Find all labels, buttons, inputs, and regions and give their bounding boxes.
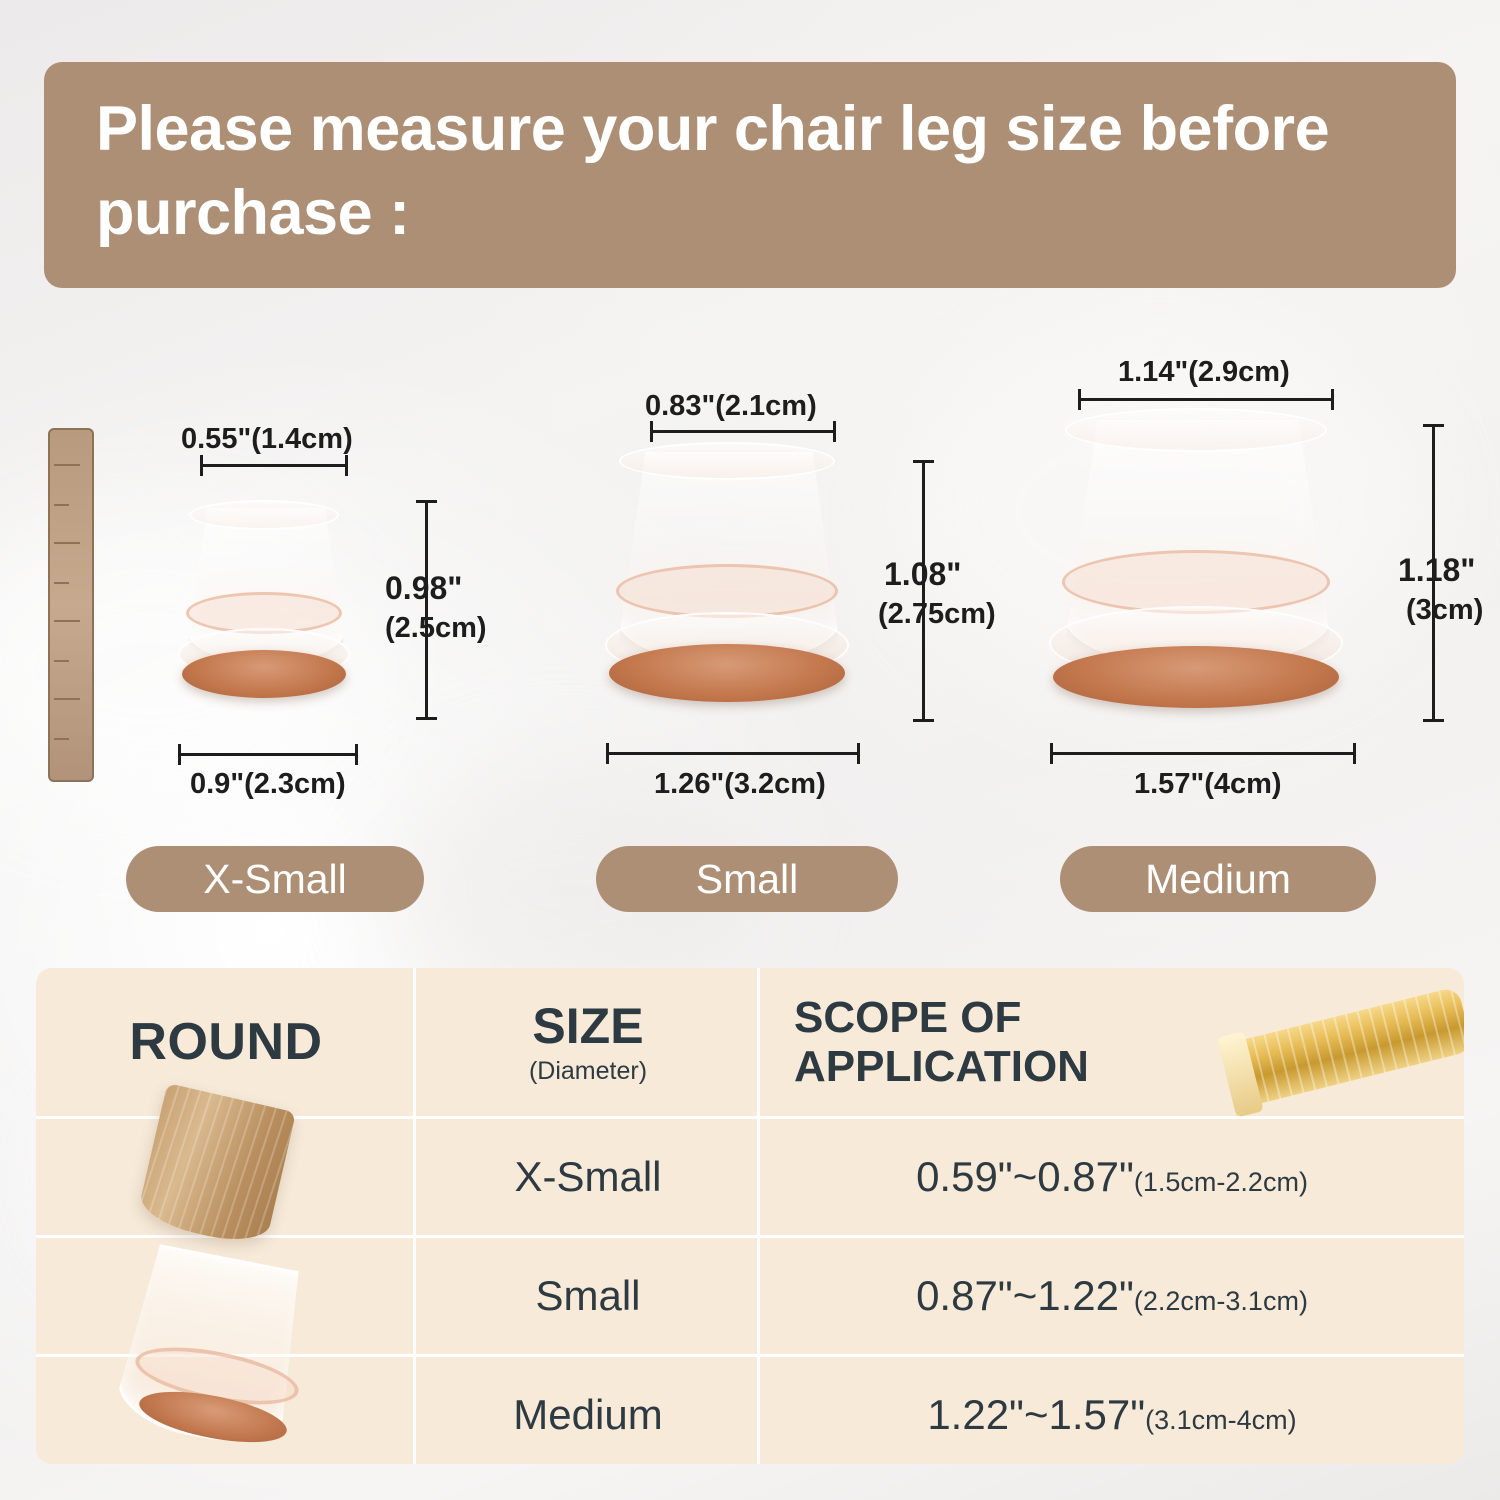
- dim-top-width-medium: 1.14"(2.9cm): [1118, 356, 1290, 389]
- dim-bottom-width-small: 1.26"(3.2cm): [654, 768, 826, 801]
- dim-bar-bottom-x-small: [178, 753, 358, 756]
- wooden-leg-icon: [136, 1083, 296, 1249]
- size-chart-table: ROUND SIZE (Diameter) SCOPE OF APPLICATI…: [36, 968, 1464, 1464]
- row-scope-paren: (3.1cm-4cm): [1145, 1405, 1297, 1435]
- dim-height-medium: 1.18": [1398, 552, 1475, 589]
- row-size-label: X-Small: [514, 1153, 661, 1201]
- row-size-label: Small: [535, 1272, 640, 1320]
- row-cell-size: Medium: [416, 1357, 760, 1464]
- header-scope-line1: SCOPE OF: [794, 993, 1021, 1042]
- dim-height-sub-medium: (3cm): [1406, 594, 1483, 627]
- headline-banner: Please measure your chair leg size befor…: [44, 62, 1456, 288]
- chair-leg-cap-x-small: [186, 508, 342, 676]
- header-size-label: SIZE: [532, 998, 643, 1054]
- round-cap-icon: [126, 1256, 298, 1438]
- dim-bar-bottom-small: [606, 752, 860, 755]
- headline-text: Please measure your chair leg size befor…: [96, 88, 1416, 256]
- dim-bar-top-medium: [1078, 398, 1334, 401]
- row-cell-size: X-Small: [416, 1119, 760, 1235]
- header-cell-shape: ROUND: [36, 968, 416, 1116]
- header-scope-line2: APPLICATION: [794, 1042, 1089, 1091]
- pill-x-small[interactable]: X-Small: [126, 846, 424, 912]
- header-cell-size: SIZE (Diameter): [416, 968, 760, 1116]
- dim-bottom-width-medium: 1.57"(4cm): [1134, 768, 1282, 801]
- chair-leg-cap-medium: [1062, 420, 1330, 690]
- row-scope-main: 0.59"~0.87": [916, 1153, 1134, 1200]
- dim-bar-bottom-medium: [1050, 752, 1356, 755]
- row-cell-scope: 0.87"~1.22"(2.2cm-3.1cm): [760, 1238, 1464, 1354]
- dim-height-x-small: 0.98": [385, 570, 462, 607]
- row-size-label: Medium: [513, 1391, 662, 1439]
- row-cell-scope: 0.59"~0.87"(1.5cm-2.2cm): [760, 1119, 1464, 1235]
- pill-small[interactable]: Small: [596, 846, 898, 912]
- dim-height-sub-small: (2.75cm): [878, 598, 996, 631]
- row-scope-main: 0.87"~1.22": [916, 1272, 1134, 1319]
- row-scope-paren: (2.2cm-3.1cm): [1134, 1286, 1308, 1316]
- ruler-icon: [48, 428, 94, 782]
- header-shape-label: ROUND: [129, 1012, 322, 1072]
- dim-bar-top-small: [650, 430, 836, 433]
- dim-top-width-x-small: 0.55"(1.4cm): [181, 423, 353, 456]
- chair-leg-cap-small: [616, 452, 838, 682]
- dim-height-small: 1.08": [884, 556, 961, 593]
- dim-bottom-width-x-small: 0.9"(2.3cm): [190, 768, 346, 801]
- dim-bar-top-x-small: [200, 464, 348, 467]
- row-scope-main: 1.22"~1.57": [927, 1391, 1145, 1438]
- dim-top-width-small: 0.83"(2.1cm): [645, 390, 817, 423]
- header-size-sublabel: (Diameter): [529, 1059, 647, 1084]
- chair-leg-with-cap-illustration: [92, 1096, 392, 1436]
- dim-height-sub-x-small: (2.5cm): [385, 612, 487, 645]
- dim-bar-height-x-small: [425, 500, 428, 720]
- row-scope-paren: (1.5cm-2.2cm): [1134, 1167, 1308, 1197]
- pill-medium[interactable]: Medium: [1060, 846, 1376, 912]
- row-cell-size: Small: [416, 1238, 760, 1354]
- row-cell-scope: 1.22"~1.57"(3.1cm-4cm): [760, 1357, 1464, 1464]
